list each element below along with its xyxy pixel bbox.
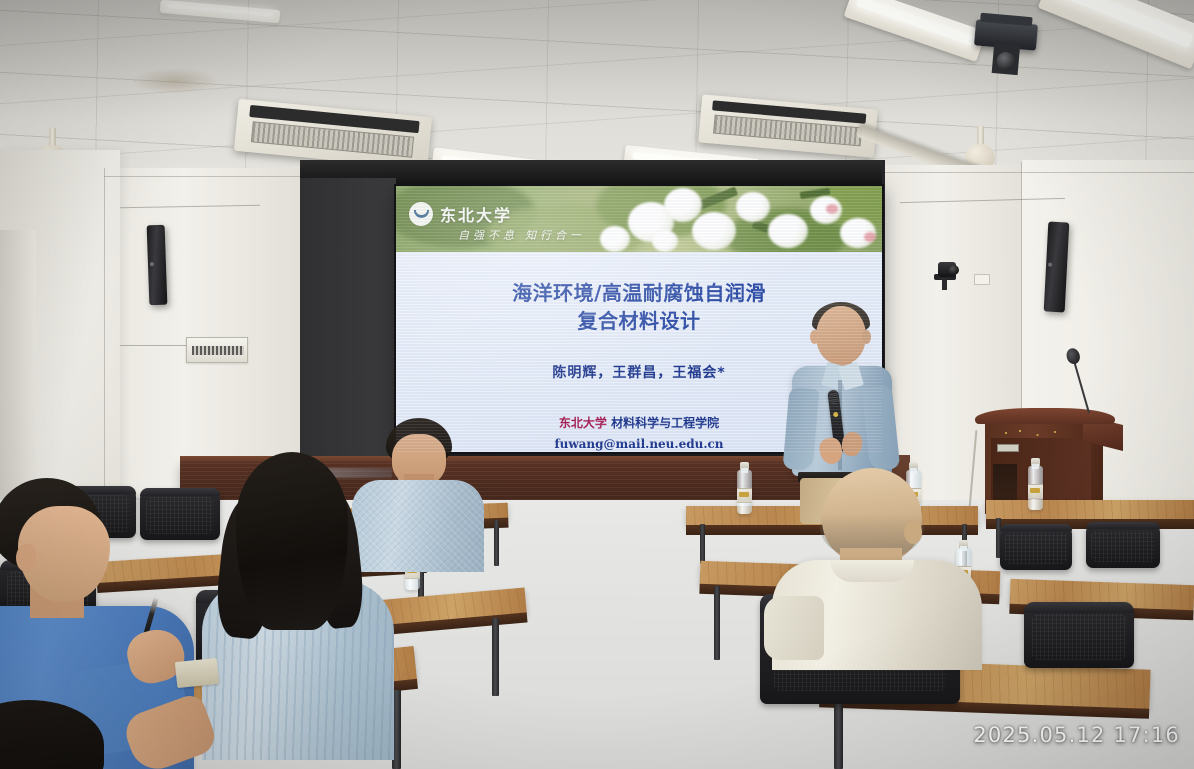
- slide-logo-university: 东北大学: [440, 202, 512, 226]
- water-bottle: [737, 470, 752, 514]
- neu-emblem-icon: [409, 202, 433, 226]
- wall-segment-left: [105, 168, 300, 498]
- ceiling-projector-icon: [974, 19, 1038, 50]
- slide-affiliation-department: 材料科学与工程学院: [611, 416, 719, 430]
- audience-member-woman: [212, 452, 392, 769]
- photo-timestamp: 2025.05.12 17:16: [973, 723, 1180, 747]
- wall-plaque: [186, 337, 248, 363]
- wall-speaker-icon: [147, 225, 168, 306]
- lectern-tag: [997, 444, 1019, 452]
- chair[interactable]: [1024, 602, 1134, 668]
- desk-leg: [492, 618, 499, 696]
- audience-member-bald: [778, 468, 974, 658]
- desk: [986, 500, 1194, 520]
- slide-logo-motto: 自强不息 知行合一: [458, 227, 585, 243]
- desk-leg: [494, 520, 499, 566]
- desk-leg: [714, 586, 720, 660]
- wall-seam: [104, 176, 304, 177]
- slide-header-band: 东北大学 自强不息 知行合一: [396, 186, 882, 252]
- wall-outlet-icon: [974, 274, 990, 285]
- desk-leg: [834, 700, 843, 769]
- slide-title-line-1: 海洋环境/高温耐腐蚀自润滑: [396, 280, 882, 307]
- wall-cable: [120, 345, 192, 346]
- lectern[interactable]: [975, 408, 1115, 513]
- water-bottle: [1028, 466, 1043, 510]
- slide-affiliation-university: 东北大学: [559, 416, 607, 430]
- desk-leg: [700, 524, 705, 564]
- conference-room-photo: 东北大学 自强不息 知行合一 海洋环境/高温耐腐蚀自润滑 复合材料设计 陈明辉，…: [0, 0, 1194, 769]
- wall-seam: [104, 168, 105, 498]
- notebook: [175, 658, 219, 688]
- chair[interactable]: [1000, 524, 1072, 570]
- chair[interactable]: [1086, 522, 1160, 568]
- wall-camera-icon: [930, 262, 964, 288]
- wall-seam: [879, 172, 1194, 173]
